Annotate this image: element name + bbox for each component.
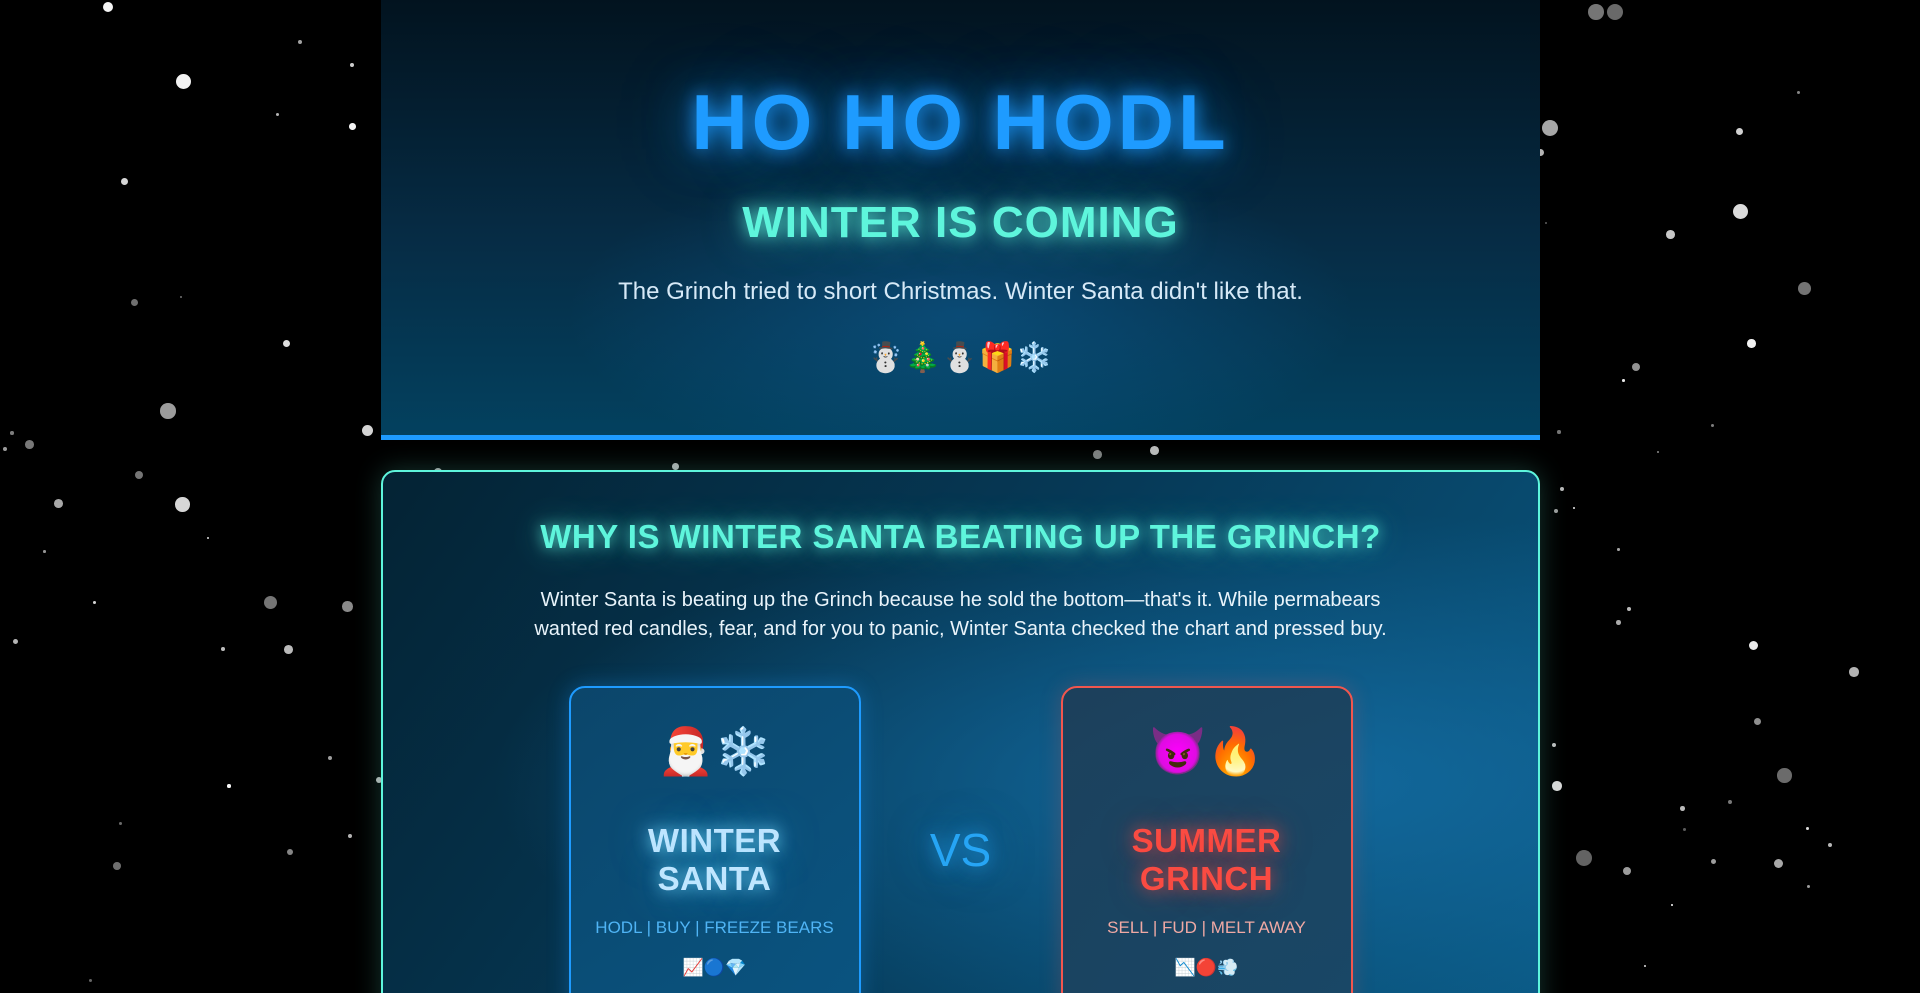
snow-particle bbox=[1797, 91, 1800, 94]
snow-particle bbox=[350, 63, 354, 67]
snow-particle bbox=[1552, 743, 1556, 747]
hero-section: HO HO HODL WINTER IS COMING The Grinch t… bbox=[381, 0, 1540, 440]
snow-particle bbox=[1545, 222, 1547, 224]
snow-particle bbox=[10, 431, 14, 435]
snow-particle bbox=[54, 499, 63, 508]
snow-particle bbox=[283, 340, 290, 347]
snow-particle bbox=[1728, 800, 1732, 804]
snow-particle bbox=[1828, 843, 1832, 847]
card-winter-santa[interactable]: 🎅❄️ WINTER SANTA HODL | BUY | FREEZE BEA… bbox=[569, 686, 861, 993]
snow-particle bbox=[160, 403, 176, 419]
versus-label: VS bbox=[861, 823, 1061, 877]
versus-row: 🎅❄️ WINTER SANTA HODL | BUY | FREEZE BEA… bbox=[405, 686, 1516, 993]
snow-particle bbox=[1588, 4, 1604, 20]
snow-particle bbox=[43, 550, 46, 553]
snow-particle bbox=[1680, 806, 1685, 811]
snow-particle bbox=[176, 74, 191, 89]
santa-card-subtitle: HODL | BUY | FREEZE BEARS bbox=[587, 918, 843, 938]
snow-particle bbox=[1607, 4, 1623, 20]
snow-particle bbox=[1777, 768, 1792, 783]
snow-particle bbox=[119, 822, 122, 825]
grinch-emoji-icon: 😈🔥 bbox=[1079, 728, 1335, 774]
snow-particle bbox=[221, 647, 225, 651]
explainer-section: WHY IS WINTER SANTA BEATING UP THE GRINC… bbox=[381, 470, 1540, 993]
section-heading: WHY IS WINTER SANTA BEATING UP THE GRINC… bbox=[405, 518, 1516, 556]
snow-particle bbox=[342, 601, 353, 612]
santa-emoji-icon: 🎅❄️ bbox=[587, 728, 843, 774]
snow-particle bbox=[1849, 667, 1859, 677]
snow-particle bbox=[1623, 867, 1631, 875]
snow-particle bbox=[13, 639, 18, 644]
snow-particle bbox=[284, 645, 293, 654]
snow-particle bbox=[349, 123, 356, 130]
snow-particle bbox=[93, 601, 96, 604]
snow-particle bbox=[276, 113, 279, 116]
section-body-text: Winter Santa is beating up the Grinch be… bbox=[511, 586, 1411, 644]
snow-particle bbox=[264, 596, 277, 609]
snow-particle bbox=[1554, 509, 1558, 513]
snow-particle bbox=[1683, 828, 1686, 831]
snow-particle bbox=[103, 2, 113, 12]
snow-particle bbox=[1798, 282, 1811, 295]
hero-tagline: The Grinch tried to short Christmas. Win… bbox=[381, 278, 1540, 306]
snow-particle bbox=[298, 40, 302, 44]
snow-particle bbox=[1616, 620, 1621, 625]
snow-particle bbox=[25, 440, 34, 449]
snow-particle bbox=[348, 834, 352, 838]
snow-particle bbox=[135, 471, 143, 479]
snow-particle bbox=[1617, 548, 1620, 551]
snow-particle bbox=[1711, 424, 1714, 427]
page-title: HO HO HODL bbox=[381, 82, 1540, 164]
snow-particle bbox=[1747, 339, 1756, 348]
snow-particle bbox=[1657, 451, 1659, 453]
snow-particle bbox=[1671, 904, 1673, 906]
card-summer-grinch[interactable]: 😈🔥 SUMMER GRINCH SELL | FUD | MELT AWAY … bbox=[1061, 686, 1353, 993]
snow-particle bbox=[1749, 641, 1758, 650]
snow-particle bbox=[113, 862, 121, 870]
snow-particle bbox=[1542, 120, 1558, 136]
page-root: HO HO HODL WINTER IS COMING The Grinch t… bbox=[0, 0, 1920, 993]
snow-particle bbox=[175, 497, 190, 512]
snow-particle bbox=[1666, 230, 1675, 239]
grinch-card-title: SUMMER GRINCH bbox=[1079, 822, 1335, 898]
snow-particle bbox=[1807, 885, 1810, 888]
snow-particle bbox=[1806, 827, 1809, 830]
snow-particle bbox=[1711, 859, 1716, 864]
snow-particle bbox=[89, 979, 92, 982]
snow-particle bbox=[328, 756, 332, 760]
grinch-card-subtitle: SELL | FUD | MELT AWAY bbox=[1079, 918, 1335, 938]
snow-particle bbox=[1736, 128, 1743, 135]
snow-particle bbox=[1754, 718, 1761, 725]
snow-particle bbox=[1733, 204, 1748, 219]
snow-particle bbox=[1632, 363, 1640, 371]
snow-particle bbox=[1560, 487, 1564, 491]
content-column: HO HO HODL WINTER IS COMING The Grinch t… bbox=[381, 0, 1540, 993]
snow-particle bbox=[1573, 507, 1575, 509]
grinch-card-tags: 📉🔴💨 bbox=[1079, 958, 1335, 978]
snow-particle bbox=[362, 425, 373, 436]
snow-particle bbox=[3, 447, 7, 451]
snow-particle bbox=[287, 849, 293, 855]
snow-particle bbox=[1557, 430, 1561, 434]
snow-particle bbox=[180, 296, 182, 298]
santa-card-tags: 📈🔵💎 bbox=[587, 958, 843, 978]
snow-particle bbox=[1622, 379, 1625, 382]
hero-subtitle: WINTER IS COMING bbox=[381, 198, 1540, 248]
santa-card-title: WINTER SANTA bbox=[587, 822, 843, 898]
snow-particle bbox=[1644, 965, 1646, 967]
snow-particle bbox=[1627, 607, 1631, 611]
snow-particle bbox=[207, 537, 209, 539]
snow-particle bbox=[1576, 850, 1592, 866]
snow-particle bbox=[121, 178, 128, 185]
snow-particle bbox=[1774, 859, 1783, 868]
hero-emoji-row: ☃️🎄⛄🎁❄️ bbox=[381, 341, 1540, 375]
snow-particle bbox=[1552, 781, 1562, 791]
snow-particle bbox=[227, 784, 231, 788]
snow-particle bbox=[131, 299, 138, 306]
